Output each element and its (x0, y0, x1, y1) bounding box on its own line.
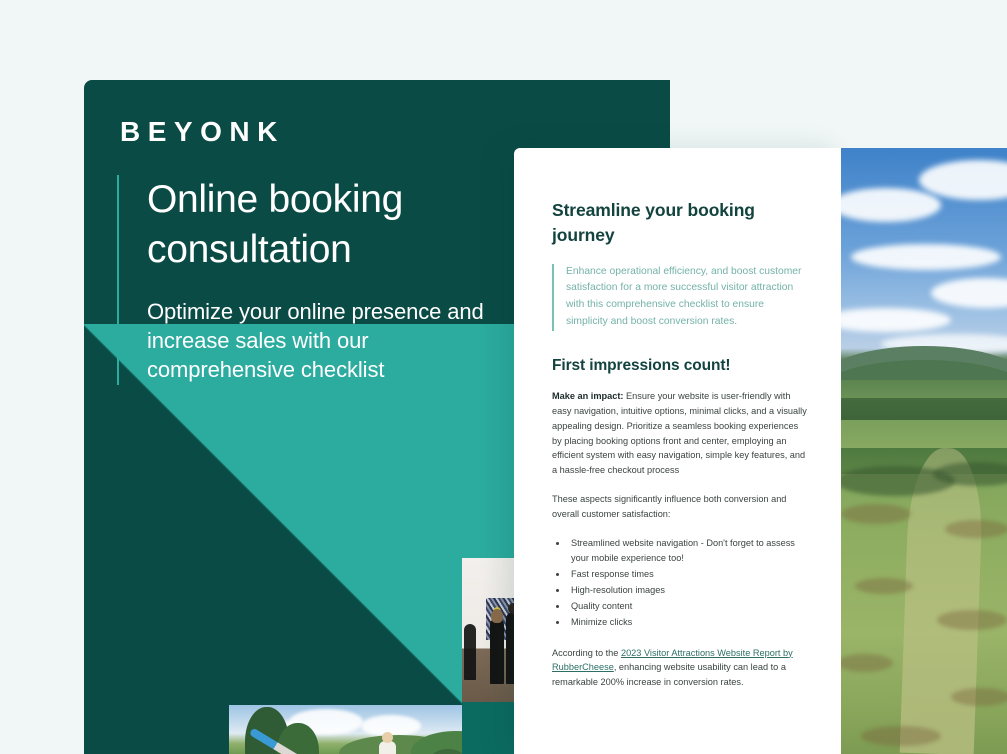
dry-grass-patch (951, 688, 1007, 706)
list-item: Minimize clicks (568, 615, 807, 630)
cloud (931, 278, 1007, 308)
dry-grass-patch (841, 654, 893, 672)
list-item: Quality content (568, 599, 807, 614)
list-item: Streamlined website navigation - Don't f… (568, 536, 807, 566)
source-prefix: According to the (552, 648, 621, 658)
cloud (919, 160, 1007, 200)
canoe-illustration (229, 705, 462, 754)
aspects-list: Streamlined website navigation - Don't f… (552, 536, 807, 629)
impact-body: Ensure your website is user-friendly wit… (552, 391, 807, 476)
canoe-photo (229, 705, 462, 754)
dry-grass-patch (855, 578, 913, 594)
brand-logo: BEYONK (120, 118, 285, 146)
impact-label: Make an impact: (552, 391, 623, 401)
teal-diagonal-shape (84, 324, 514, 754)
gallery-visitor-silhouette (490, 618, 504, 684)
list-item: High-resolution images (568, 583, 807, 598)
page-subtitle: Optimize your online presence and increa… (147, 297, 517, 385)
document-panel: Streamline your booking journey Enhance … (514, 148, 841, 754)
page-title: Online booking consultation (147, 175, 517, 275)
document-quote: Enhance operational efficiency, and boos… (552, 264, 807, 331)
screenshot-stage: BEYONK Online booking consultation Optim… (0, 0, 1007, 754)
dry-grass-patch (945, 520, 1007, 538)
countryside-landscape-photo (841, 148, 1007, 754)
impact-paragraph: Make an impact: Ensure your website is u… (552, 389, 807, 478)
headline-block: Online booking consultation Optimize you… (117, 175, 517, 385)
gallery-visitor-silhouette (464, 624, 476, 680)
dry-grass-patch (937, 610, 1007, 630)
dry-grass-patch (861, 726, 941, 746)
document-heading: Streamline your booking journey (552, 198, 807, 248)
source-paragraph: According to the 2023 Visitor Attraction… (552, 646, 807, 691)
cloud (841, 308, 951, 332)
dry-grass-patch (841, 504, 911, 524)
cloud (841, 188, 941, 222)
document-section-heading: First impressions count! (552, 357, 807, 375)
list-item: Fast response times (568, 567, 807, 582)
adult-paddler (379, 741, 396, 754)
document-content: Streamline your booking journey Enhance … (514, 148, 841, 690)
cloud (851, 244, 1001, 270)
aspects-intro: These aspects significantly influence bo… (552, 492, 807, 522)
